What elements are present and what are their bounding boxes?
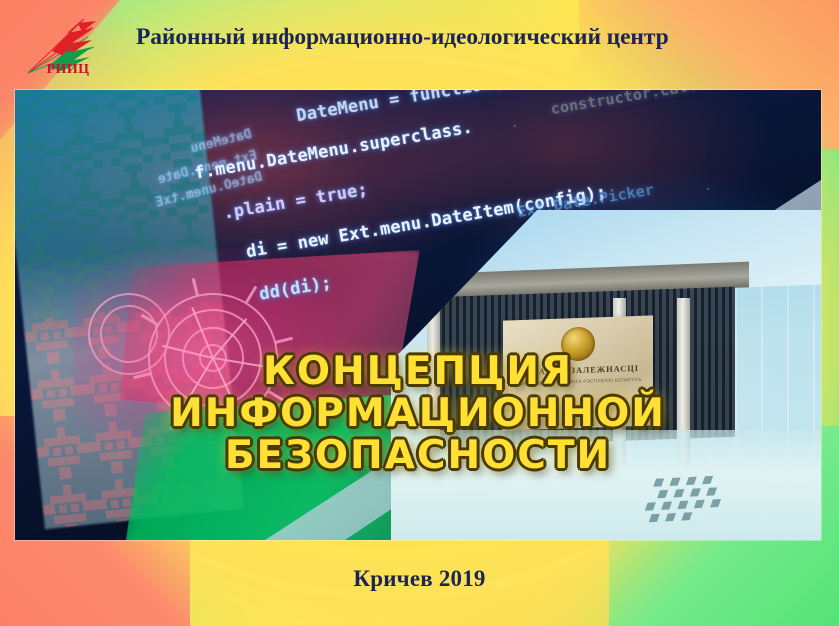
page-title: Районный информационно-идеологический це… — [136, 24, 736, 51]
image-background-starfield — [15, 90, 821, 540]
riic-zigzag-logo-icon: РИИЦ — [22, 7, 114, 83]
cover-image: DateMenu Ext.menu.Date DateO.unem.txE Da… — [15, 90, 821, 540]
footer-place-year: Кричев 2019 — [0, 566, 839, 592]
presentation-slide: РИИЦ Районный информационно-идеологическ… — [0, 0, 839, 626]
logo-acronym: РИИЦ — [22, 62, 114, 78]
slide-header: РИИЦ Районный информационно-идеологическ… — [0, 0, 839, 88]
